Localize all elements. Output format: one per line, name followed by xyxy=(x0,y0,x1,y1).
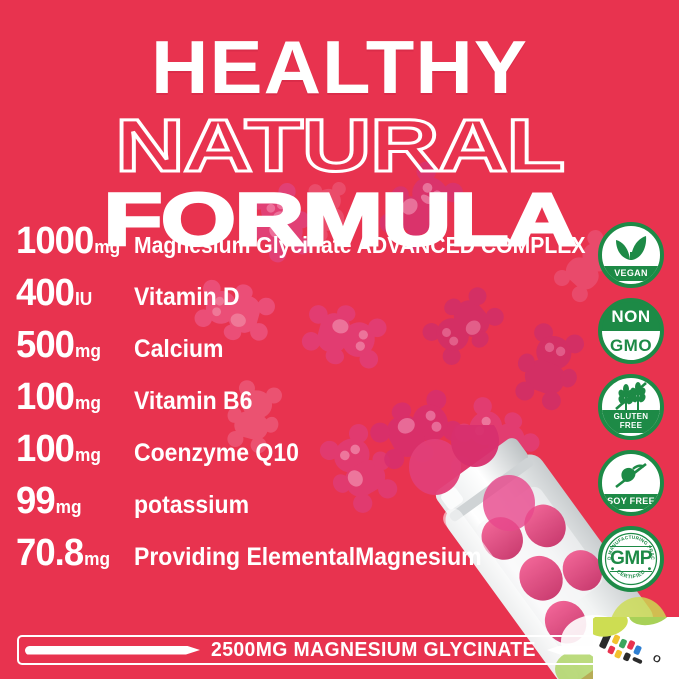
ingredient-value: 100 xyxy=(16,430,74,468)
badge-gmp-center: GMP xyxy=(610,546,652,572)
ingredient-amount: 500 mg xyxy=(16,326,129,364)
ingredient-amount: 99 mg xyxy=(16,482,129,520)
ingredient-value: 400 xyxy=(16,274,74,312)
certification-badge-group: VEGAN NON GMO xyxy=(591,222,671,602)
badge-gluten-free-line1: GLUTEN xyxy=(602,412,660,421)
ingredient-name: Providing ElementalMagnesium xyxy=(134,545,482,570)
headline-block: HEALTHY NATURAL FORMULA NATURAL FORMULA xyxy=(0,0,679,257)
ingredient-list: 1000 mg Magnesium Glycinate ADVANCED COM… xyxy=(16,222,556,586)
ingredient-name: potassium xyxy=(134,493,249,518)
ingredient-value: 500 xyxy=(16,326,74,364)
ingredient-unit: mg xyxy=(75,394,101,412)
ingredient-row: 500 mg Calcium xyxy=(16,326,556,378)
ingredient-row: 100 mg Vitamin B6 xyxy=(16,378,556,430)
product-label-corner: O xyxy=(593,617,679,679)
ingredient-unit: mg xyxy=(75,446,101,464)
ingredient-value: 100 xyxy=(16,378,74,416)
ingredient-unit: mg xyxy=(84,550,110,568)
badge-non-gmo-bottom: GMO xyxy=(602,331,660,360)
badge-non-gmo: NON GMO xyxy=(598,298,664,364)
headline-primary: HEALTHY xyxy=(0,30,679,105)
badge-vegan-caption: VEGAN xyxy=(602,266,660,281)
badge-gluten-free-caption: GLUTEN FREE xyxy=(602,410,660,433)
ingredient-amount: 400 IU xyxy=(16,274,129,312)
ingredient-amount: 1000 mg xyxy=(16,222,129,260)
ingredient-row: 70.8 mg Providing ElementalMagnesium xyxy=(16,534,556,586)
ingredient-name: Calcium xyxy=(134,337,223,362)
ingredient-row: 99 mg potassium xyxy=(16,482,556,534)
ingredient-value: 99 xyxy=(16,482,55,520)
bottom-banner: 2500MG MAGNESIUM GLYCINATE xyxy=(17,635,662,665)
badge-gluten-free: GLUTEN FREE xyxy=(598,374,664,440)
badge-soy-free-caption: SOY FREE xyxy=(602,494,660,509)
ingredient-row: 100 mg Coenzyme Q10 xyxy=(16,430,556,482)
ingredient-unit: mg xyxy=(94,238,120,256)
badge-vegan: VEGAN xyxy=(598,222,664,288)
ingredient-row: 1000 mg Magnesium Glycinate ADVANCED COM… xyxy=(16,222,556,274)
badge-soy-free: SOY FREE xyxy=(598,450,664,516)
ingredient-amount: 100 mg xyxy=(16,378,129,416)
ingredient-row: 400 IU Vitamin D xyxy=(16,274,556,326)
leaves-icon xyxy=(602,226,660,266)
ingredient-amount: 100 mg xyxy=(16,430,129,468)
badge-gmp: GOOD MANUFACTURING PRACTICE CERTIFIED GM… xyxy=(598,526,664,592)
ingredient-name: Vitamin B6 xyxy=(134,389,252,414)
ingredient-value: 70.8 xyxy=(16,534,83,572)
ingredient-unit: mg xyxy=(75,342,101,360)
ingredient-amount: 70.8 mg xyxy=(16,534,129,572)
banner-text: 2500MG MAGNESIUM GLYCINATE xyxy=(211,639,536,662)
ingredient-unit: mg xyxy=(56,498,82,516)
ingredient-name: Coenzyme Q10 xyxy=(134,441,299,466)
ingredient-name: Magnesium Glycinate ADVANCED COMPLEX xyxy=(134,233,585,258)
ingredient-name: Vitamin D xyxy=(134,285,240,310)
ingredient-unit: IU xyxy=(75,290,92,308)
banner-rule-left xyxy=(25,646,200,655)
product-marketing-image: HEALTHY NATURAL FORMULA NATURAL FORMULA … xyxy=(0,0,679,679)
badge-non-gmo-top: NON xyxy=(602,302,660,331)
badge-gluten-free-line2: FREE xyxy=(602,421,660,430)
ingredient-value: 1000 xyxy=(16,222,93,260)
wheat-icon xyxy=(602,378,660,410)
soybean-icon xyxy=(602,454,660,494)
